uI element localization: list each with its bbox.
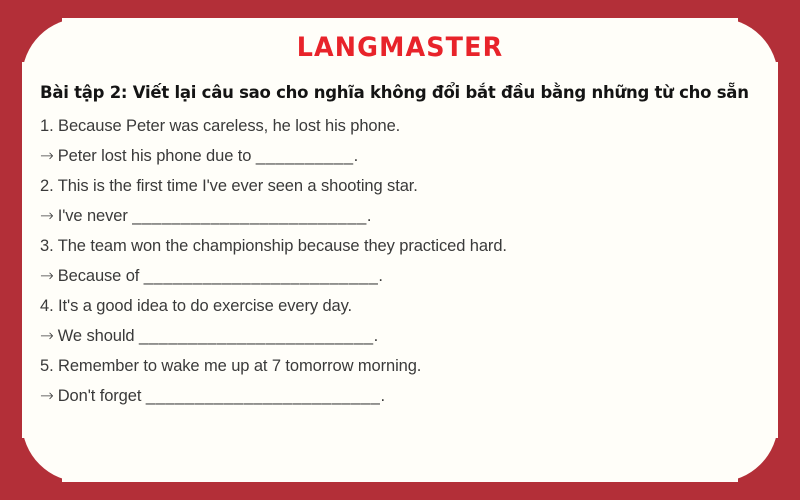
langmaster-logo: LANGMASTER (62, 0, 739, 61)
answer-blank[interactable]: ________________________ (132, 207, 367, 225)
exercise-item: 3. The team won the championship because… (40, 231, 760, 291)
exercise-item: 5. Remember to wake me up at 7 tomorrow … (40, 351, 760, 411)
question-line: 2. This is the first time I've ever seen… (40, 171, 760, 201)
answer-prefix: Peter lost his phone due to (58, 147, 252, 165)
exercise-item: 4. It's a good idea to do exercise every… (40, 291, 760, 351)
exercise-item: 1. Because Peter was careless, he lost h… (40, 111, 760, 171)
worksheet-page: LANGMASTER Bài tập 2: Viết lại câu sao c… (0, 0, 800, 500)
arrow-icon: → (40, 261, 58, 291)
question-line: 4. It's a good idea to do exercise every… (40, 291, 760, 321)
answer-line: →I've never ________________________. (40, 201, 760, 231)
exercise-title: Bài tập 2: Viết lại câu sao cho nghĩa kh… (40, 83, 760, 102)
question-line: 1. Because Peter was careless, he lost h… (40, 111, 760, 141)
answer-line: →Don't forget ________________________. (40, 381, 760, 411)
answer-prefix: I've never (58, 207, 128, 225)
answer-prefix: Don't forget (58, 387, 142, 405)
answer-line: →We should ________________________. (40, 321, 760, 351)
answer-terminator: . (380, 387, 384, 405)
answer-line: →Because of ________________________. (40, 261, 760, 291)
answer-blank[interactable]: ________________________ (146, 387, 381, 405)
answer-line: →Peter lost his phone due to __________. (40, 141, 760, 171)
arrow-icon: → (40, 201, 58, 231)
answer-terminator: . (378, 267, 382, 285)
worksheet-content: LANGMASTER Bài tập 2: Viết lại câu sao c… (0, 0, 800, 500)
answer-prefix: Because of (58, 267, 140, 285)
answer-blank[interactable]: ________________________ (139, 327, 374, 345)
arrow-icon: → (40, 321, 58, 351)
exercise-item: 2. This is the first time I've ever seen… (40, 171, 760, 231)
answer-blank[interactable]: __________ (256, 147, 354, 165)
answer-blank[interactable]: ________________________ (144, 267, 379, 285)
answer-terminator: . (367, 207, 371, 225)
arrow-icon: → (40, 141, 58, 171)
arrow-icon: → (40, 381, 58, 411)
answer-terminator: . (354, 147, 358, 165)
exercise-item-list: 1. Because Peter was careless, he lost h… (40, 111, 760, 411)
answer-terminator: . (374, 327, 378, 345)
question-line: 5. Remember to wake me up at 7 tomorrow … (40, 351, 760, 381)
question-line: 3. The team won the championship because… (40, 231, 760, 261)
answer-prefix: We should (58, 327, 135, 345)
